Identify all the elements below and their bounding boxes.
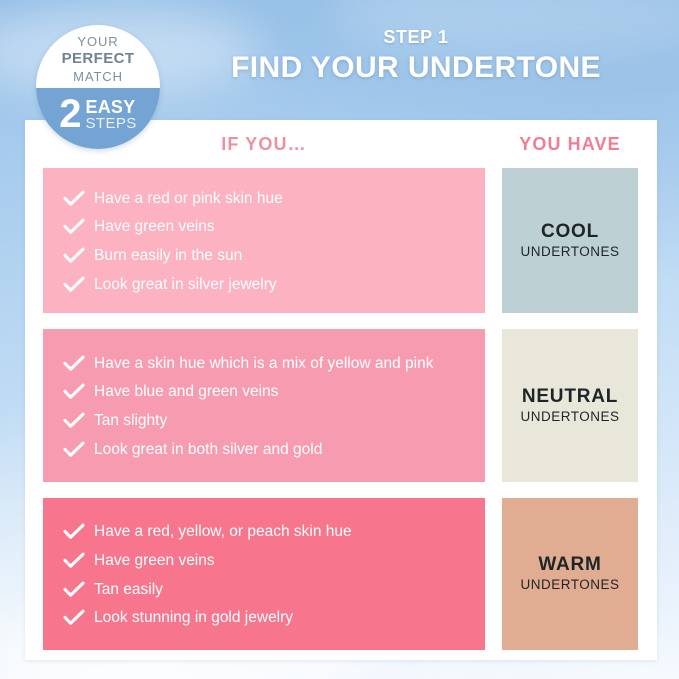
swatch-subtitle: UNDERTONES: [520, 245, 619, 260]
criteria-panel-warm: Have a red, yellow, or peach skin hue Ha…: [43, 498, 485, 650]
badge-line-easy: EASY: [86, 98, 136, 116]
table-row: Have a red, yellow, or peach skin hue Ha…: [43, 498, 639, 650]
check-icon: [63, 552, 85, 569]
badge-bottom-half: 2 EASY STEPS: [36, 88, 160, 149]
table-row: Have a red or pink skin hue Have green v…: [43, 168, 639, 313]
list-item-label: Tan slighty: [94, 411, 471, 431]
list-item-label: Have a red, yellow, or peach skin hue: [94, 522, 471, 542]
your-perfect-match-badge: YOUR PERFECT MATCH 2 EASY STEPS: [36, 25, 160, 149]
list-item: Burn easily in the sun: [63, 246, 471, 266]
swatch-subtitle: UNDERTONES: [520, 410, 619, 425]
list-item: Look great in silver jewelry: [63, 275, 471, 295]
badge-top-half: YOUR PERFECT MATCH: [36, 25, 160, 88]
page-title: FIND YOUR UNDERTONE: [172, 51, 660, 85]
criteria-panel-cool: Have a red or pink skin hue Have green v…: [43, 168, 485, 313]
list-item: Have a red, yellow, or peach skin hue: [63, 522, 471, 542]
list-item-label: Look stunning in gold jewelry: [94, 608, 471, 628]
badge-line-match: MATCH: [73, 69, 123, 86]
list-item: Tan easily: [63, 580, 471, 600]
swatch-title: WARM: [538, 555, 601, 576]
list-item-label: Look great in silver jewelry: [94, 275, 471, 295]
list-item-label: Have green veins: [94, 217, 471, 237]
badge-step-words: EASY STEPS: [86, 98, 137, 131]
check-icon: [63, 383, 85, 400]
list-item-label: Have green veins: [94, 551, 471, 571]
list-item-label: Have blue and green veins: [94, 382, 471, 402]
list-item-label: Burn easily in the sun: [94, 246, 471, 266]
step-label: STEP 1: [172, 28, 660, 47]
badge-line-your: YOUR: [77, 34, 118, 51]
list-item: Have green veins: [63, 551, 471, 571]
swatch-subtitle: UNDERTONES: [520, 578, 619, 593]
check-icon: [63, 247, 85, 264]
check-icon: [63, 441, 85, 458]
poster-header: STEP 1 FIND YOUR UNDERTONE: [172, 28, 660, 84]
list-item-label: Have a red or pink skin hue: [94, 189, 471, 209]
check-icon: [63, 609, 85, 626]
check-icon: [63, 276, 85, 293]
badge-line-steps: STEPS: [86, 116, 137, 131]
undertone-swatch-cool: COOL UNDERTONES: [502, 168, 638, 313]
badge-line-perfect: PERFECT: [62, 50, 135, 68]
check-icon: [63, 218, 85, 235]
swatch-title: NEUTRAL: [522, 387, 618, 408]
check-icon: [63, 523, 85, 540]
undertone-swatch-warm: WARM UNDERTONES: [502, 498, 638, 650]
list-item-label: Look great in both silver and gold: [94, 440, 471, 460]
list-item: Tan slighty: [63, 411, 471, 431]
infographic-poster: STEP 1 FIND YOUR UNDERTONE IF YOU… YOU H…: [0, 0, 679, 679]
check-icon: [63, 190, 85, 207]
list-item: Have a skin hue which is a mix of yellow…: [63, 354, 471, 374]
content-card: IF YOU… YOU HAVE Have a red or pink skin…: [25, 120, 657, 660]
check-icon: [63, 581, 85, 598]
badge-step-count: 2: [59, 97, 80, 132]
undertone-rows: Have a red or pink skin hue Have green v…: [43, 168, 639, 650]
undertone-swatch-neutral: NEUTRAL UNDERTONES: [502, 329, 638, 482]
table-row: Have a skin hue which is a mix of yellow…: [43, 329, 639, 482]
criteria-panel-neutral: Have a skin hue which is a mix of yellow…: [43, 329, 485, 482]
list-item: Have a red or pink skin hue: [63, 189, 471, 209]
list-item-label: Have a skin hue which is a mix of yellow…: [94, 354, 471, 374]
list-item: Have blue and green veins: [63, 382, 471, 402]
check-icon: [63, 412, 85, 429]
column-header-you-have: YOU HAVE: [502, 134, 638, 155]
list-item: Look great in both silver and gold: [63, 440, 471, 460]
check-icon: [63, 355, 85, 372]
list-item-label: Tan easily: [94, 580, 471, 600]
list-item: Have green veins: [63, 217, 471, 237]
list-item: Look stunning in gold jewelry: [63, 608, 471, 628]
swatch-title: COOL: [541, 222, 599, 243]
